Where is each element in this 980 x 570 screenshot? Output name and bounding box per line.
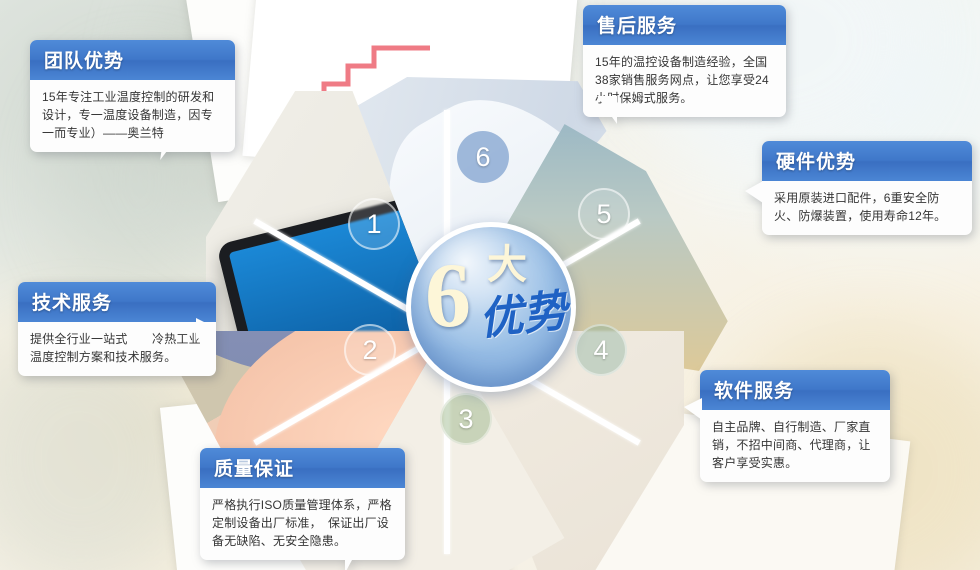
callout-body-hardware: 采用原装进口配件，6重安全防火、防爆装置，使用寿命12年。 [762, 181, 972, 235]
callout-title-team: 团队优势 [30, 40, 235, 80]
segment-number-badge-4[interactable]: 4 [575, 324, 627, 376]
segment-number-4: 4 [593, 335, 608, 366]
segment-number-badge-3[interactable]: 3 [440, 393, 492, 445]
callout-tail [745, 181, 763, 203]
callout-body-software: 自主品牌、自行制造、厂家直销，不招中间商、代理商，让客户享受实惠。 [700, 410, 890, 482]
segment-number-badge-6[interactable]: 6 [457, 131, 509, 183]
callout-tail [684, 398, 702, 420]
segment-number-3: 3 [458, 404, 473, 435]
callout-software-service[interactable]: 软件服务 自主品牌、自行制造、厂家直销，不招中间商、代理商，让客户享受实惠。 [700, 370, 890, 482]
callout-tail [345, 547, 359, 570]
callout-after-sales-service[interactable]: 售后服务 15年的温控设备制造经验，全国38家销售服务网点，让您享受24小时保姆… [583, 5, 786, 117]
callout-tail [196, 318, 214, 340]
poster-stage: 1 2 3 4 5 6 6 大 优势 团队优势 15年专注工业温度控制的研发和设… [0, 0, 980, 570]
callout-title-after-sales: 售后服务 [583, 5, 786, 45]
callout-quality-assurance[interactable]: 质量保证 严格执行ISO质量管理体系，严格定制设备出厂标准， 保证出厂设备无缺陷… [200, 448, 405, 560]
segment-number-1: 1 [366, 209, 381, 240]
callout-technical-service[interactable]: 技术服务 提供全行业一站式 冷热工业温度控制方案和技术服务。 [18, 282, 216, 376]
segment-number-6: 6 [475, 142, 490, 173]
callout-team-advantage[interactable]: 团队优势 15年专注工业温度控制的研发和设计，专一温度设备制造，因专一而专业）—… [30, 40, 235, 152]
callout-title-software: 软件服务 [700, 370, 890, 410]
center-number: 6 [425, 249, 471, 341]
segment-number-badge-1[interactable]: 1 [348, 198, 400, 250]
callout-title-hardware: 硬件优势 [762, 141, 972, 181]
segment-number-2: 2 [362, 335, 377, 366]
center-big-char: 大 [487, 245, 527, 285]
callout-title-technical: 技术服务 [18, 282, 216, 322]
center-emblem: 6 大 优势 [406, 222, 576, 392]
callout-tail [597, 96, 617, 124]
segment-number-badge-2[interactable]: 2 [344, 324, 396, 376]
callout-title-quality: 质量保证 [200, 448, 405, 488]
callout-body-team: 15年专注工业温度控制的研发和设计，专一温度设备制造，因专一而专业）——奥兰特 [30, 80, 235, 152]
callout-body-quality: 严格执行ISO质量管理体系，严格定制设备出厂标准， 保证出厂设备无缺陷、无安全隐… [200, 488, 405, 560]
center-script-text: 优势 [477, 289, 569, 344]
segment-number-5: 5 [596, 199, 611, 230]
callout-hardware-advantage[interactable]: 硬件优势 采用原装进口配件，6重安全防火、防爆装置，使用寿命12年。 [762, 141, 972, 235]
callout-body-technical: 提供全行业一站式 冷热工业温度控制方案和技术服务。 [18, 322, 216, 376]
segment-number-badge-5[interactable]: 5 [578, 188, 630, 240]
